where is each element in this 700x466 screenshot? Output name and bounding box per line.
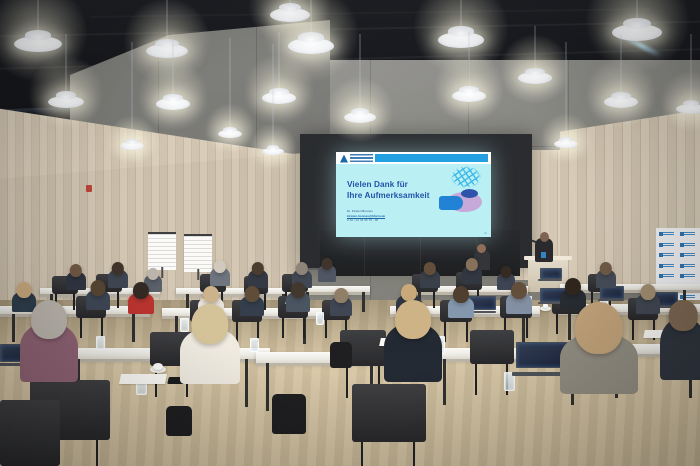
- audience-member: [86, 280, 110, 310]
- audience-member: [108, 262, 128, 288]
- audience-head: [133, 282, 149, 299]
- audience-head: [565, 278, 581, 295]
- audience-head: [669, 300, 698, 331]
- audience-head: [321, 258, 332, 270]
- audience-head: [91, 280, 106, 296]
- audience-member: [248, 262, 268, 288]
- audience-head: [334, 288, 348, 303]
- audience-head: [203, 286, 219, 303]
- audience-member: [596, 262, 616, 288]
- audience-member: [20, 300, 78, 382]
- audience-head: [453, 286, 469, 303]
- audience-head: [31, 300, 67, 339]
- audience-head: [641, 284, 656, 300]
- audience-head: [401, 284, 417, 301]
- audience-member: [560, 302, 638, 394]
- audience-member: [128, 282, 154, 314]
- audience-member: [66, 264, 86, 290]
- audience-member: [420, 262, 440, 288]
- audience-head: [395, 300, 431, 339]
- audience-member: [506, 282, 532, 314]
- audience-member: [384, 300, 442, 382]
- audience-member: [462, 258, 482, 284]
- conference-hall-photo: Vielen Dank für Ihre Aufmerksamkeit Dr. …: [0, 0, 700, 466]
- audience-member: [210, 260, 230, 286]
- audience-head: [245, 286, 260, 302]
- audience-head: [291, 282, 306, 298]
- audience-head: [17, 282, 32, 298]
- audience-member: [286, 282, 310, 312]
- audience-member: [180, 304, 240, 384]
- audience-head: [575, 302, 623, 354]
- audience-member: [448, 286, 474, 318]
- audience-head: [511, 282, 527, 299]
- audience-head: [147, 268, 158, 280]
- audience-head: [191, 304, 228, 344]
- audience-member: [660, 300, 700, 380]
- audience-member: [330, 288, 352, 316]
- audience-head: [500, 266, 511, 278]
- audience-member: [318, 258, 336, 282]
- audience-member: [636, 284, 660, 314]
- audience-layer: [0, 0, 700, 466]
- audience-member: [240, 286, 264, 316]
